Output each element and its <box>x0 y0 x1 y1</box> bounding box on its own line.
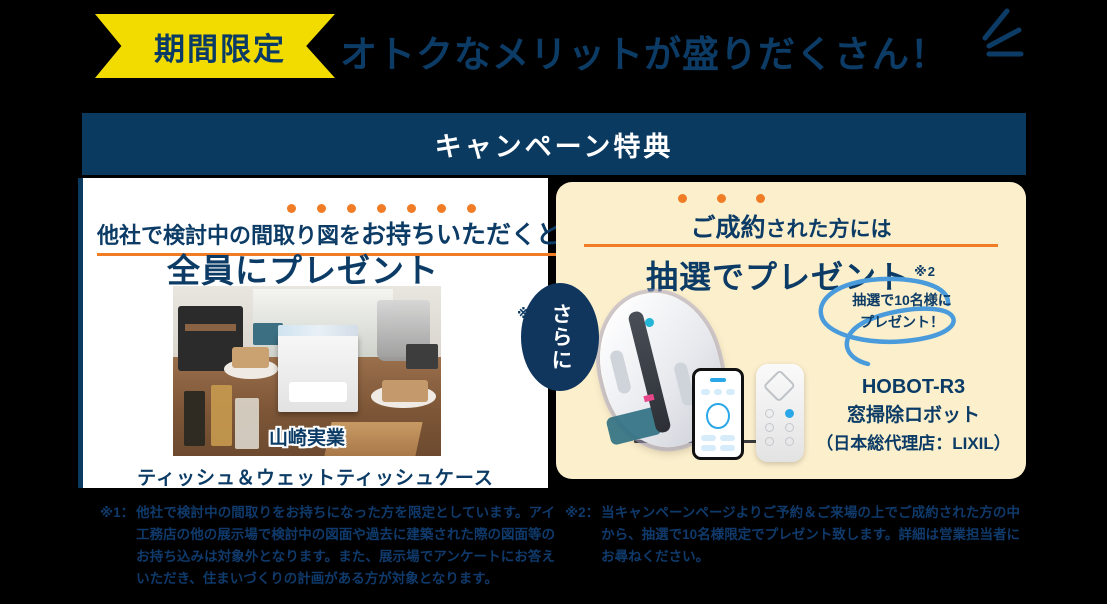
product-type: 窓掃除ロボット <box>806 402 1021 431</box>
benefit-panel-left: 他社で検討中の間取り図をお持ちいただくと 全員にプレゼント ※1 山崎実業 <box>78 178 548 488</box>
sarani-label: さらに <box>545 303 575 372</box>
top-banner-row: 期間限定 オトクなメリットが盛りだくさん！ <box>0 0 1107 104</box>
right-panel-divider <box>584 244 998 247</box>
emphasis-dots-left <box>225 204 537 213</box>
right-lead-emphasis: ご成約 <box>690 214 765 242</box>
left-title-text: 全員にプレゼント <box>167 252 439 289</box>
remote-control-image <box>756 364 804 462</box>
lottery-callout: 抽選で10名様に プレゼント！ <box>810 274 990 370</box>
product-name: HOBOT-R3 <box>806 372 1021 402</box>
window-cleaning-robot-photo <box>574 290 824 470</box>
benefit-panel-right: ご成約された方には 抽選でプレゼント※2 <box>556 182 1026 479</box>
sarani-badge: さらに <box>521 283 599 391</box>
footnotes-area: ※1： 他社で検討中の間取りをお持ちになった方を限定としています。アイ工務店の他… <box>0 496 1107 604</box>
left-product-caption: ティッシュ＆ウェットティッシュケース <box>83 463 548 490</box>
footnote-1-text: 他社で検討中の間取りをお持ちになった方を限定としています。アイ工務店の他の展示場… <box>136 502 555 589</box>
campaign-header-label: キャンペーン特典 <box>435 125 674 164</box>
banner-root: 期間限定 オトクなメリットが盛りだくさん！ キャンペーン特典 他社で検討中の間取… <box>0 0 1107 604</box>
campaign-header-bar: キャンペーン特典 <box>82 113 1026 175</box>
footnote-1-marker: ※1： <box>100 502 134 589</box>
smartphone-app-image <box>692 368 744 460</box>
robot-product-info: HOBOT-R3 窓掃除ロボット （日本総代理店：LIXIL） <box>806 372 1021 456</box>
callout-line-1: 抽選で10名様に <box>832 290 972 312</box>
footnote-1: ※1： 他社で検討中の間取りをお持ちになった方を限定としています。アイ工務店の他… <box>100 502 555 589</box>
right-lead-text: ご成約された方には <box>556 208 1026 244</box>
footnote-2-marker: ※2： <box>565 502 599 568</box>
lottery-callout-text: 抽選で10名様に プレゼント！ <box>832 290 972 333</box>
product-distributor: （日本総代理店：LIXIL） <box>806 431 1021 457</box>
main-headline: オトクなメリットが盛りだくさん！ <box>340 20 948 82</box>
footnote-2: ※2： 当キャンペーンページよりご予約＆ご来場の上でご成約された方の中から、抽選… <box>565 502 1020 568</box>
emphasis-dots-right <box>678 194 765 203</box>
brand-overlay-label: 山崎実業 <box>173 423 441 450</box>
decorative-lines-icon <box>975 8 1035 64</box>
ribbon-label: 期間限定 <box>144 24 286 69</box>
callout-line-2: プレゼント！ <box>832 312 972 334</box>
left-panel-title: 全員にプレゼント ※1 <box>83 244 523 292</box>
right-lead-plain: された方には <box>766 218 892 241</box>
limited-time-ribbon: 期間限定 <box>95 14 335 78</box>
tissue-case-photo: 山崎実業 <box>173 286 441 456</box>
footnote-2-text: 当キャンペーンページよりご予約＆ご来場の上でご成約された方の中から、抽選で10名… <box>601 502 1020 568</box>
